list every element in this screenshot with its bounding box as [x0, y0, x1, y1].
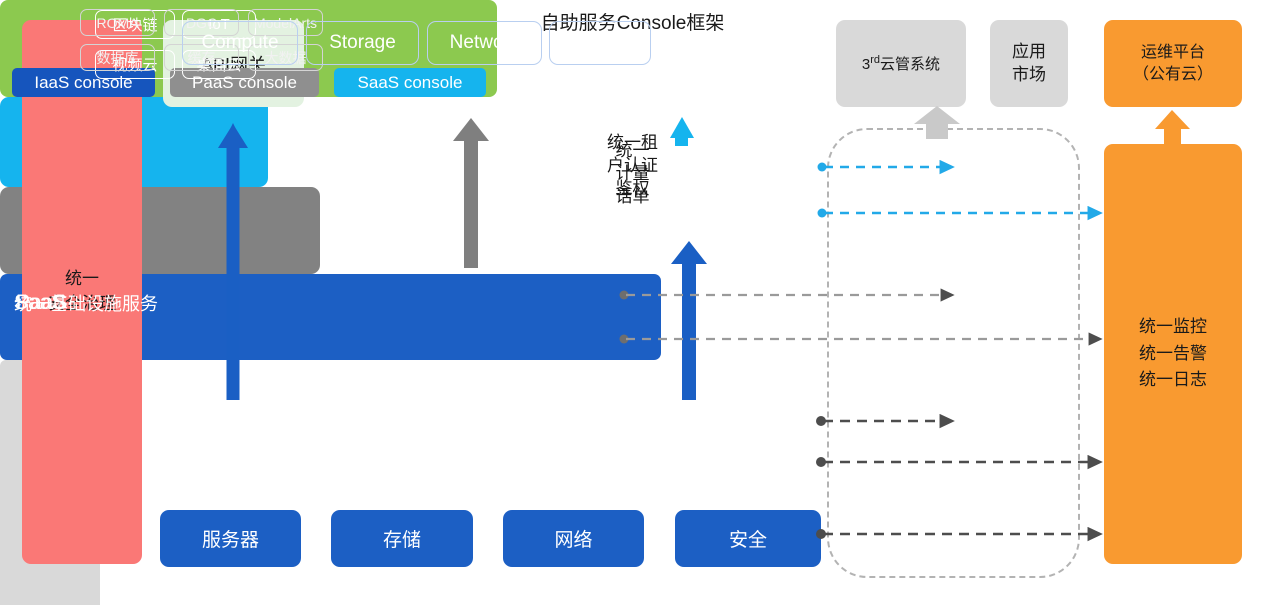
app-market-line-1: 应用	[1012, 41, 1046, 64]
metering-line-1: 统一	[0, 140, 1265, 163]
architecture-diagram: 统一 安全治理 API网关 自助服务Console框架 IaaS console…	[0, 0, 1265, 605]
paas-chip-roma[interactable]: ROMA	[80, 9, 155, 36]
arrow-infra-to-saas	[671, 241, 707, 400]
ops-body-line-3: 统一日志	[1139, 367, 1207, 393]
saas-console-chip[interactable]: SaaS console	[334, 68, 486, 97]
third-party-cloud-management-box: 3rd云管系统	[836, 20, 966, 107]
infrastructure-label: 统一基础设施服务	[14, 290, 158, 316]
ops-body-line-2: 统一告警	[1139, 341, 1207, 367]
ops-top-line-1: 运维平台	[1133, 42, 1213, 64]
infra-chip-storage[interactable]: Storage	[306, 21, 419, 65]
hardware-box-security: 安全	[675, 510, 821, 567]
ops-body-line-1: 统一监控	[1139, 314, 1207, 340]
third-cloud-label: 3rd云管系统	[862, 53, 940, 74]
metering-text: 统一 计量 话单	[0, 140, 1265, 209]
app-market-box: 应用 市场	[990, 20, 1068, 107]
paas-chip-database[interactable]: 数据库	[80, 44, 155, 71]
security-line-1: 统一	[48, 267, 116, 292]
hardware-box-network: 网络	[503, 510, 644, 567]
metering-line-2: 计量	[0, 163, 1265, 186]
metering-line-3: 话单	[0, 186, 1265, 209]
hardware-box-server: 服务器	[160, 510, 301, 567]
ops-top-line-2: （公有云）	[1133, 64, 1213, 86]
app-market-line-2: 市场	[1012, 64, 1046, 87]
ops-platform-public-cloud-box: 运维平台 （公有云）	[1104, 20, 1242, 107]
infra-chip-compute[interactable]: Compute	[182, 21, 298, 65]
infra-chip-network[interactable]: Network	[427, 21, 542, 65]
hardware-box-storage: 存储	[331, 510, 473, 567]
infra-chip-cce[interactable]: CCE	[549, 21, 651, 65]
